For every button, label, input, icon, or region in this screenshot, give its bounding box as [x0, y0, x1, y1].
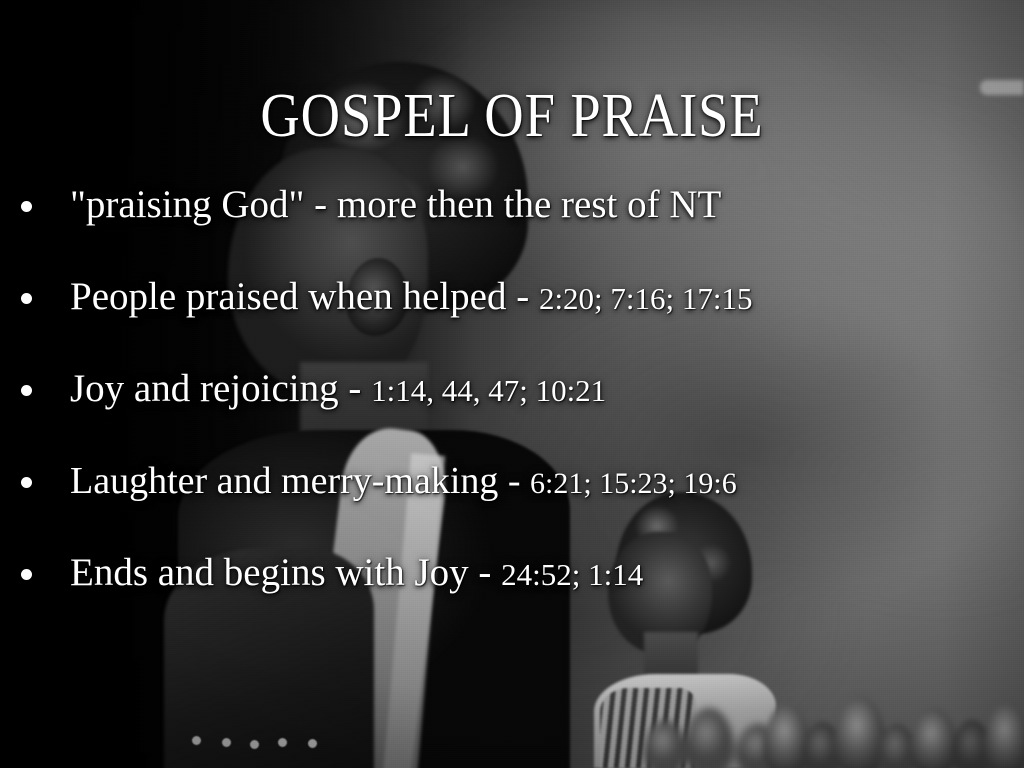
bullet-item-5: Ends and begins with Joy - 24:52; 1:14: [0, 528, 1024, 620]
bullet-reference-4: 6:21; 15:23; 19:6: [530, 467, 737, 500]
slide-content: GOSPEL OF PRAISE "praising God" - more t…: [0, 0, 1024, 768]
bullet-reference-3: 1:14, 44, 47; 10:21: [371, 373, 606, 408]
bullet-marker-icon: [21, 293, 32, 304]
bullet-text-2: People praised when helped - 2:20; 7:16;…: [70, 275, 753, 321]
bullet-marker-icon: [21, 477, 32, 488]
bullet-item-3: Joy and rejoicing - 1:14, 44, 47; 10:21: [0, 344, 1024, 436]
slide-title: GOSPEL OF PRAISE: [61, 82, 962, 150]
bullet-phrase-2: People praised when helped -: [70, 275, 539, 318]
bullet-list: "praising God" - more then the rest of N…: [0, 160, 1024, 620]
bullet-item-4: Laughter and merry-making - 6:21; 15:23;…: [0, 436, 1024, 528]
bullet-phrase-3: Joy and rejoicing -: [70, 367, 371, 410]
bullet-item-2: People praised when helped - 2:20; 7:16;…: [0, 252, 1024, 344]
bullet-text-4: Laughter and merry-making - 6:21; 15:23;…: [70, 459, 737, 506]
bullet-phrase-1: "praising God" - more then the rest of N…: [70, 183, 721, 226]
bullet-reference-2: 2:20; 7:16; 17:15: [539, 281, 753, 316]
presentation-slide: GOSPEL OF PRAISE "praising God" - more t…: [0, 0, 1024, 768]
bullet-phrase-5: Ends and begins with Joy -: [70, 551, 501, 594]
bullet-reference-5: 24:52; 1:14: [501, 557, 643, 592]
bullet-marker-icon: [21, 201, 32, 212]
bullet-text-5: Ends and begins with Joy - 24:52; 1:14: [70, 551, 643, 597]
bullet-marker-icon: [21, 569, 32, 580]
bullet-text-1: "praising God" - more then the rest of N…: [70, 183, 721, 229]
bullet-marker-icon: [21, 385, 32, 396]
bullet-item-1: "praising God" - more then the rest of N…: [0, 160, 1024, 252]
bullet-text-3: Joy and rejoicing - 1:14, 44, 47; 10:21: [70, 367, 606, 413]
bullet-phrase-4: Laughter and merry-making -: [70, 460, 530, 502]
